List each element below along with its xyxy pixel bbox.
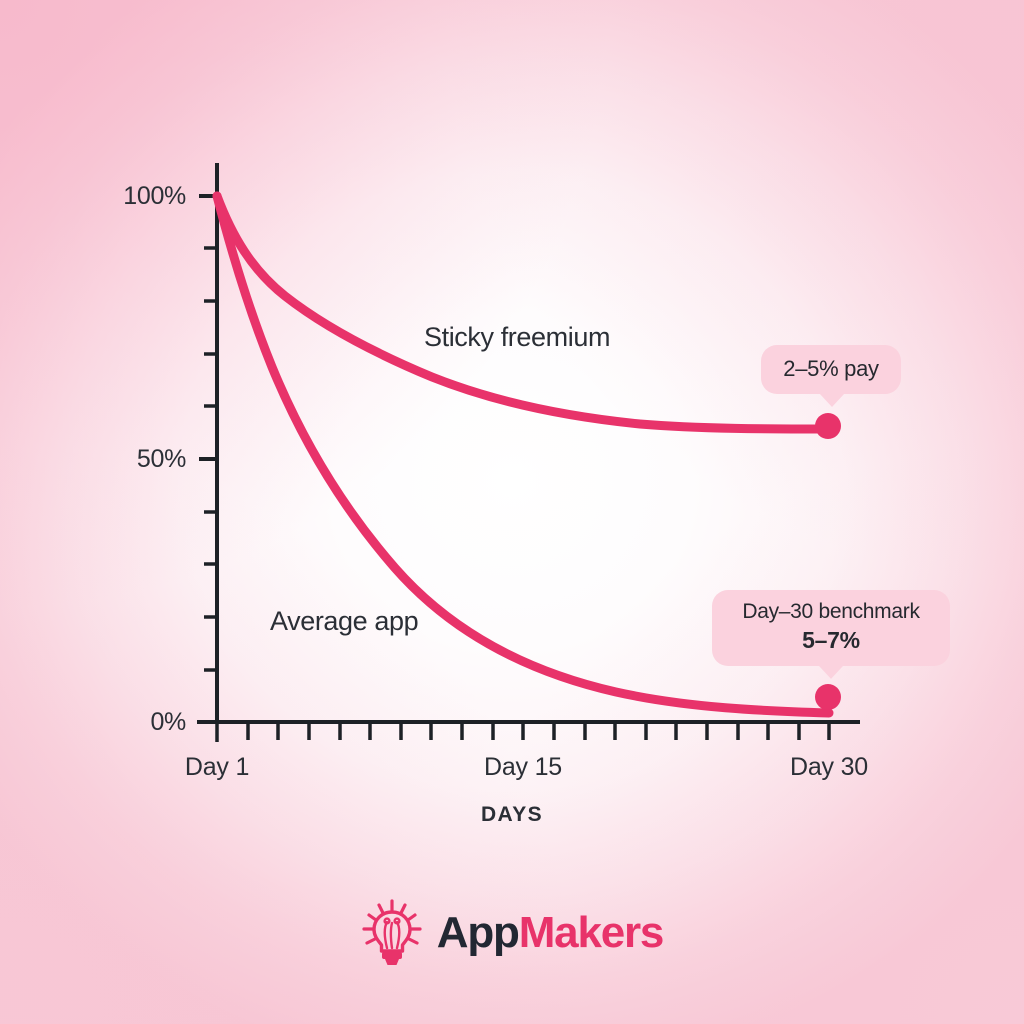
callout-day30-benchmark[interactable]: Day–30 benchmark 5–7% <box>712 590 950 666</box>
series-label-sticky-freemium: Sticky freemium <box>424 322 610 353</box>
retention-chart-plot <box>0 0 1024 1024</box>
callout-benchmark-line2: 5–7% <box>722 627 940 654</box>
series-label-average-app: Average app <box>270 606 418 637</box>
endpoint-marker-sticky-freemium[interactable] <box>815 413 841 439</box>
x-tick-label-day-30: Day 30 <box>764 753 894 782</box>
y-axis-major-ticks <box>197 196 217 722</box>
y-tick-label-100: 100% <box>100 182 186 211</box>
brand-word-makers: Makers <box>519 908 663 957</box>
brand-lockup: AppMakers <box>0 898 1024 968</box>
brand-word-app: App <box>437 908 519 957</box>
bulb-socket-icon <box>385 959 399 965</box>
x-axis-title: DAYS <box>0 803 1024 827</box>
y-tick-label-0: 0% <box>100 708 186 737</box>
series-line-sticky-freemium <box>217 196 829 429</box>
y-tick-label-50: 50% <box>100 445 186 474</box>
x-tick-label-day-15: Day 15 <box>458 753 588 782</box>
x-tick-label-day-1: Day 1 <box>152 753 282 782</box>
bulb-base-icon <box>382 952 402 959</box>
callout-benchmark-line1: Day–30 benchmark <box>742 600 919 623</box>
lightbulb-icon <box>361 898 423 968</box>
callout-pay-rate[interactable]: 2–5% pay <box>761 345 901 394</box>
chart-canvas: 100% 50% 0% Day 1 Day 15 Day 30 RETENTIO… <box>0 0 1024 1024</box>
callout-pay-text: 2–5% pay <box>783 356 878 381</box>
x-axis-ticks <box>217 722 829 742</box>
endpoint-marker-average-app[interactable] <box>815 684 841 710</box>
brand-wordmark: AppMakers <box>437 911 663 955</box>
